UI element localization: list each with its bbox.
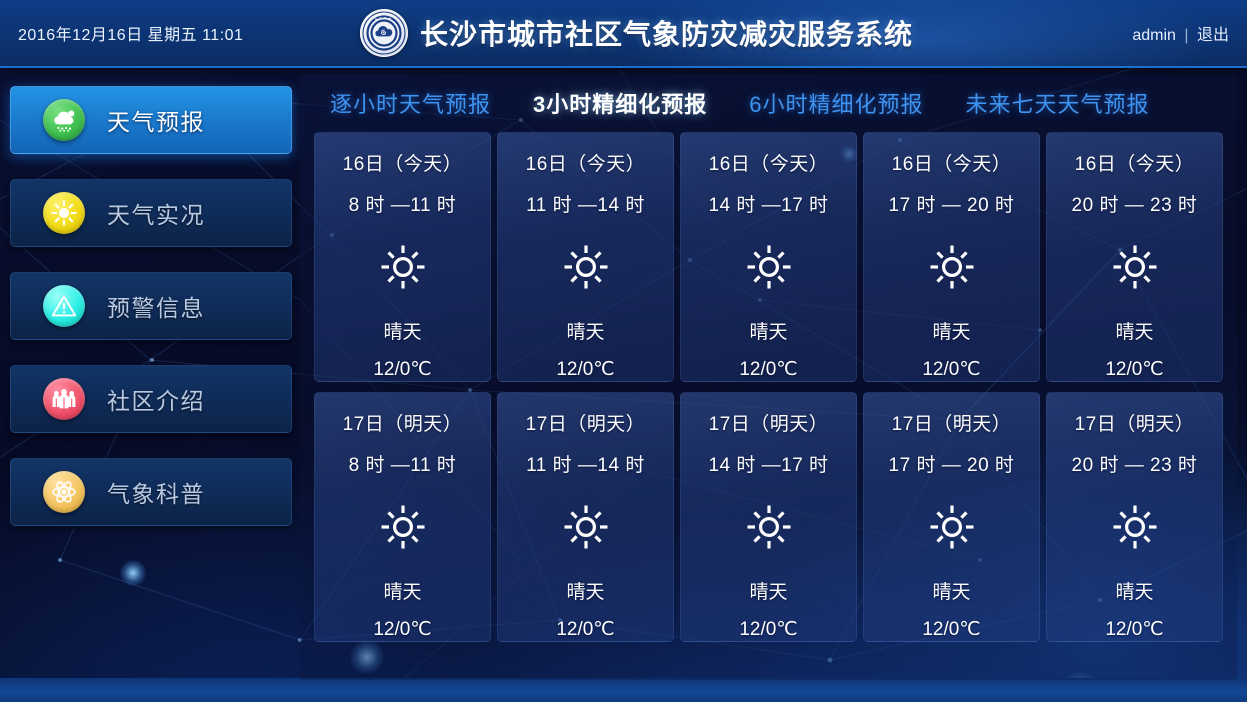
forecast-card[interactable]: 16日（今天） 17 时 — 20 时 [863, 132, 1040, 382]
tab-seven-day-forecast[interactable]: 未来七天天气预报 [950, 83, 1166, 123]
forecast-card-temperature: 12/0℃ [739, 618, 797, 641]
forecast-card-description: 晴天 [383, 577, 421, 604]
people-group-icon [43, 378, 85, 420]
forecast-card-range: 17 时 — 20 时 [889, 450, 1015, 477]
forecast-card-temperature: 12/0℃ [739, 358, 797, 381]
forecast-content-panel: 逐小时天气预报 3小时精细化预报 6小时精细化预报 未来七天天气预报 16日（今… [300, 74, 1237, 680]
forecast-card-date: 16日（今天） [1075, 149, 1195, 176]
forecast-card[interactable]: 17日（明天） 14 时 —17 时 [680, 392, 857, 642]
sidebar-item-weather-forecast[interactable]: 天气预报 [10, 86, 292, 154]
sidebar-nav: 天气预报 [0, 68, 300, 702]
sun-icon [378, 239, 428, 295]
forecast-card-range: 8 时 —11 时 [349, 450, 457, 477]
sun-icon [744, 499, 794, 555]
header-datetime: 2016年12月16日 星期五 11:01 [18, 21, 243, 45]
current-user-label[interactable]: admin [1132, 27, 1176, 44]
warning-triangle-icon [43, 285, 85, 327]
forecast-card[interactable]: 17日（明天） 17 时 — 20 时 [863, 392, 1040, 642]
app-root: 2016年12月16日 星期五 11:01 [0, 0, 1247, 702]
forecast-card-temperature: 12/0℃ [922, 358, 980, 381]
sun-icon [927, 499, 977, 555]
forecast-card-description: 晴天 [566, 317, 604, 344]
header-user-area: admin | 退出 [1132, 21, 1229, 45]
sidebar-item-label: 天气预报 [107, 103, 205, 137]
forecast-card[interactable]: 16日（今天） 14 时 —17 时 [680, 132, 857, 382]
forecast-card-range: 11 时 —14 时 [526, 190, 645, 217]
forecast-card-temperature: 12/0℃ [1105, 358, 1163, 381]
forecast-card-description: 晴天 [1115, 577, 1153, 604]
forecast-card[interactable]: 16日（今天） 8 时 —11 时 [314, 132, 491, 382]
tab-hourly-forecast[interactable]: 逐小时天气预报 [314, 83, 507, 123]
sun-icon [378, 499, 428, 555]
sun-icon [744, 239, 794, 295]
sun-icon [43, 192, 85, 234]
sun-icon [1110, 499, 1160, 555]
sun-icon [561, 239, 611, 295]
forecast-card-description: 晴天 [566, 577, 604, 604]
sidebar-item-label: 预警信息 [107, 289, 205, 323]
forecast-card[interactable]: 17日（明天） 8 时 —11 时 晴 [314, 392, 491, 642]
forecast-card-description: 晴天 [932, 577, 970, 604]
sidebar-item-community-intro[interactable]: 社区介绍 [10, 365, 292, 433]
forecast-card-date: 16日（今天） [709, 149, 829, 176]
tab-3hour-forecast[interactable]: 3小时精细化预报 [517, 83, 723, 123]
forecast-card-range: 8 时 —11 时 [349, 190, 457, 217]
forecast-card-date: 16日（今天） [526, 149, 646, 176]
sidebar-item-label: 气象科普 [107, 475, 205, 509]
forecast-card-date: 16日（今天） [343, 149, 463, 176]
forecast-card[interactable]: 17日（明天） 20 时 — 23 时 [1046, 392, 1223, 642]
cloud-rain-icon [43, 99, 85, 141]
logout-button[interactable]: 退出 [1197, 27, 1229, 44]
header-brand: 长沙市城市社区气象防灾减灾服务系统 [334, 9, 913, 57]
forecast-card-range: 20 时 — 23 时 [1072, 190, 1198, 217]
forecast-card[interactable]: 16日（今天） 20 时 — 23 时 [1046, 132, 1223, 382]
forecast-card-description: 晴天 [1115, 317, 1153, 344]
sun-icon [1110, 239, 1160, 295]
forecast-card-range: 17 时 — 20 时 [889, 190, 1015, 217]
app-header: 2016年12月16日 星期五 11:01 [0, 0, 1247, 68]
sidebar-item-warning-info[interactable]: 预警信息 [10, 272, 292, 340]
forecast-card-range: 11 时 —14 时 [526, 450, 645, 477]
forecast-card[interactable]: 16日（今天） 11 时 —14 时 [497, 132, 674, 382]
forecast-card-description: 晴天 [749, 577, 787, 604]
user-separator: | [1184, 27, 1188, 44]
body-wrapper: 天气预报 [0, 68, 1247, 702]
atom-icon [43, 471, 85, 513]
sidebar-item-live-weather[interactable]: 天气实况 [10, 179, 292, 247]
sun-icon [561, 499, 611, 555]
forecast-card-date: 17日（明天） [526, 409, 646, 436]
forecast-card-date: 17日（明天） [892, 409, 1012, 436]
forecast-card-temperature: 12/0℃ [556, 358, 614, 381]
forecast-card-range: 20 时 — 23 时 [1072, 450, 1198, 477]
sun-icon [927, 239, 977, 295]
forecast-card-temperature: 12/0℃ [922, 618, 980, 641]
forecast-card-temperature: 12/0℃ [373, 358, 431, 381]
forecast-card-date: 17日（明天） [343, 409, 463, 436]
forecast-card-range: 14 时 —17 时 [708, 450, 828, 477]
sidebar-item-label: 天气实况 [107, 196, 205, 230]
forecast-card-date: 17日（明天） [709, 409, 829, 436]
forecast-tabs: 逐小时天气预报 3小时精细化预报 6小时精细化预报 未来七天天气预报 [300, 74, 1237, 132]
forecast-card[interactable]: 17日（明天） 11 时 —14 时 [497, 392, 674, 642]
forecast-card-description: 晴天 [749, 317, 787, 344]
forecast-card-description: 晴天 [383, 317, 421, 344]
forecast-card-range: 14 时 —17 时 [708, 190, 828, 217]
forecast-card-temperature: 12/0℃ [1105, 618, 1163, 641]
forecast-card-date: 16日（今天） [892, 149, 1012, 176]
forecast-cards-grid: 16日（今天） 8 时 —11 时 [300, 132, 1237, 642]
cma-cloud-emblem-icon [360, 9, 408, 57]
forecast-card-description: 晴天 [932, 317, 970, 344]
forecast-card-date: 17日（明天） [1075, 409, 1195, 436]
sidebar-item-label: 社区介绍 [107, 382, 205, 416]
forecast-card-temperature: 12/0℃ [556, 618, 614, 641]
forecast-card-temperature: 12/0℃ [373, 618, 431, 641]
page-title: 长沙市城市社区气象防灾减灾服务系统 [420, 13, 913, 53]
tab-6hour-forecast[interactable]: 6小时精细化预报 [733, 83, 939, 123]
sidebar-item-weather-science[interactable]: 气象科普 [10, 458, 292, 526]
